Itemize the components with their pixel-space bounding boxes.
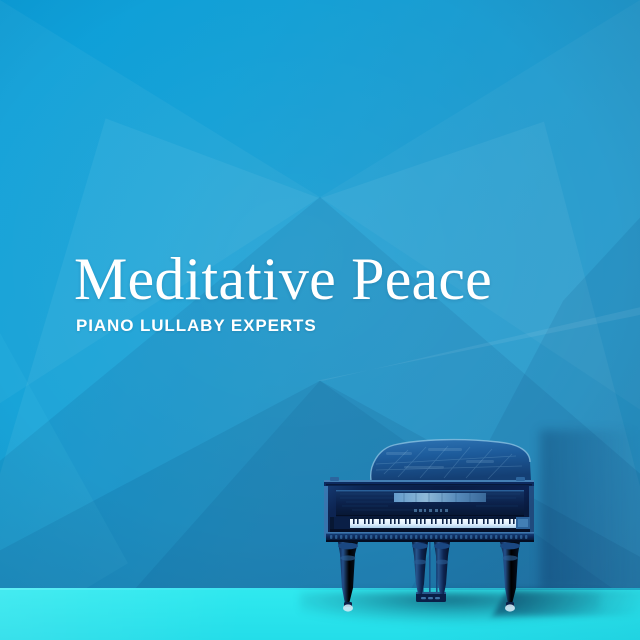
piano-apron-moulding xyxy=(326,532,534,542)
album-artist: PIANO LULLABY EXPERTS xyxy=(76,316,317,336)
music-desk xyxy=(394,493,486,502)
album-cover: Meditative Peace PIANO LULLABY EXPERTS xyxy=(0,0,640,640)
grand-piano xyxy=(316,436,576,616)
piano-leg-left xyxy=(338,542,358,612)
piano-pedals xyxy=(421,597,440,599)
piano-leg-center xyxy=(412,542,450,594)
caster-right xyxy=(505,604,515,611)
piano-leg-right xyxy=(500,542,520,612)
caster-left xyxy=(343,604,353,611)
piano-keyboard xyxy=(330,517,530,532)
album-title: Meditative Peace xyxy=(74,249,492,309)
piano-lid xyxy=(371,440,531,481)
keyblock-left xyxy=(334,517,350,529)
